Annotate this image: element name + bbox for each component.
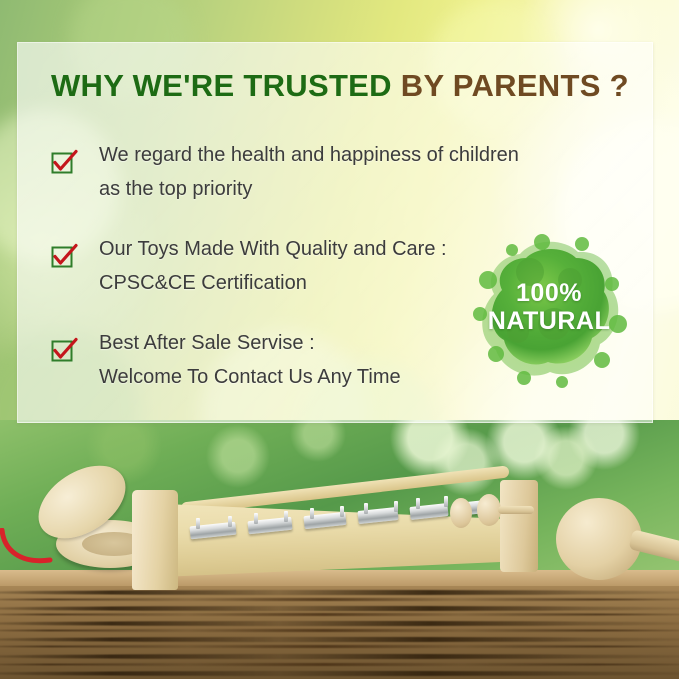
xylophone-pin (196, 518, 200, 529)
promo-banner: WHY WE'RE TRUSTED BY PARENTS ? We regard… (0, 0, 679, 679)
xylophone-left-end (132, 490, 178, 590)
wood-grain (0, 621, 679, 626)
xylophone-pin (310, 508, 314, 519)
mallet-head (450, 498, 472, 528)
checkbox-checked-icon (51, 150, 75, 174)
badge-percent: 100% (466, 280, 632, 307)
xylophone-pin (416, 498, 420, 509)
mallet-handle (498, 506, 534, 514)
wood-grain (0, 671, 679, 676)
maraca-bulb (556, 498, 642, 580)
wood-grain (0, 637, 679, 642)
checkbox-checked-icon (51, 244, 75, 268)
xylophone-pin (254, 513, 258, 524)
list-item-line: We regard the health and happiness of ch… (99, 138, 611, 172)
xylophone-pin (228, 516, 232, 527)
wood-grain (0, 629, 679, 632)
xylophone-right-end (500, 480, 538, 572)
xylophone-pin (340, 506, 344, 517)
wood-grain (0, 613, 679, 616)
xylophone (132, 480, 552, 596)
wood-grain (0, 606, 679, 611)
page-title-brown: BY PARENTS ? (401, 68, 629, 103)
page-title-green: WHY WE'RE TRUSTED (51, 68, 401, 103)
badge-text: 100% NATURAL (466, 280, 632, 335)
checkbox-checked-icon (51, 338, 75, 362)
xylophone-pin (394, 501, 398, 512)
xylophone-pin (364, 503, 368, 514)
wood-grain (0, 654, 679, 659)
list-item: We regard the health and happiness of ch… (51, 138, 611, 206)
xylophone-pin (444, 496, 448, 507)
wood-grain (0, 598, 679, 601)
xylophone-pin (284, 511, 288, 522)
page-title: WHY WE'RE TRUSTED BY PARENTS ? (51, 68, 629, 104)
natural-badge: 100% NATURAL (466, 228, 632, 394)
list-item-line: as the top priority (99, 172, 611, 206)
wood-grain (0, 663, 679, 666)
badge-label: NATURAL (466, 307, 632, 335)
list-item-text: We regard the health and happiness of ch… (99, 138, 611, 206)
product-photo (0, 420, 679, 679)
wood-grain (0, 645, 679, 648)
